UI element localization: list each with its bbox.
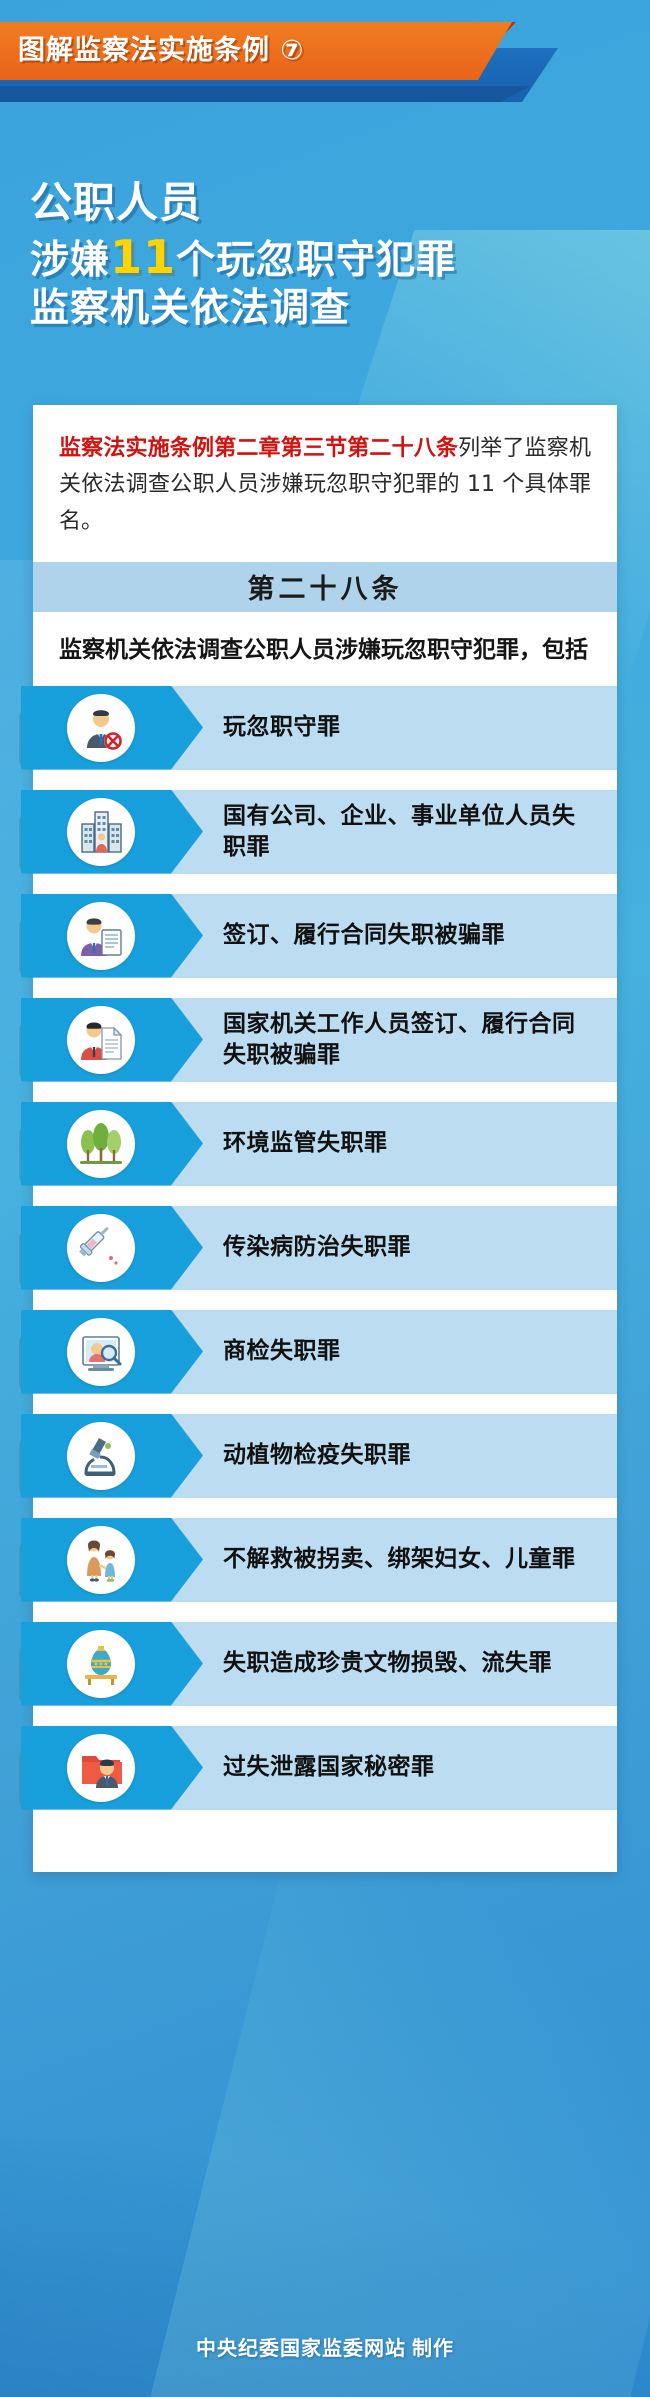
intro-paragraph: 监察法实施条例第二章第三节第二十八条列举了监察机关依法调查公职人员涉嫌玩忽职守犯… xyxy=(33,405,617,554)
person-prohibited-icon xyxy=(67,694,135,762)
article-number-label: 第二十八条 xyxy=(248,567,403,606)
vase-artifact-icon xyxy=(67,1630,135,1698)
header-ribbon: 图解监察法实施条例 ⑦ xyxy=(0,22,650,114)
crime-list: 玩忽职守罪国有公司、企业、事业单位人员失职罪签订、履行合同失职被骗罪国家机关工作… xyxy=(33,686,617,1810)
official-document-icon xyxy=(67,1006,135,1074)
crime-row-11: 过失泄露国家秘密罪 xyxy=(33,1726,617,1810)
microscope-icon xyxy=(67,1422,135,1490)
crime-row-3: 签订、履行合同失职被骗罪 xyxy=(33,894,617,978)
hero-line-3: 监察机关依法调查 xyxy=(30,286,630,332)
crime-label: 签订、履行合同失职被骗罪 xyxy=(223,894,595,978)
hero-line-2-before: 涉嫌 xyxy=(30,238,110,283)
footer-credit: 中央纪委国家监委网站 制作 xyxy=(0,2332,650,2361)
hero-line-2-after: 个玩忽职守犯罪 xyxy=(176,238,456,283)
crime-label: 玩忽职守罪 xyxy=(223,686,595,770)
crime-label: 动植物检疫失职罪 xyxy=(223,1414,595,1498)
ribbon-title-text: 图解监察法实施条例 ⑦ xyxy=(18,28,304,67)
infographic-page: 图解监察法实施条例 ⑦ 公职人员 涉嫌11个玩忽职守犯罪 监察机关依法调查 监察… xyxy=(0,0,650,2397)
crime-row-1: 玩忽职守罪 xyxy=(33,686,617,770)
crime-label: 传染病防治失职罪 xyxy=(223,1206,595,1290)
hero-number-11: 11 xyxy=(110,230,176,284)
syringe-icon xyxy=(67,1214,135,1282)
crime-label: 国家机关工作人员签订、履行合同失职被骗罪 xyxy=(223,998,595,1082)
trees-icon xyxy=(67,1110,135,1178)
hero-line-1: 公职人员 xyxy=(30,178,630,228)
ribbon-blue-shadow xyxy=(0,86,530,102)
crime-label: 商检失职罪 xyxy=(223,1310,595,1394)
article-number-band: 第二十八条 xyxy=(33,562,617,612)
crime-row-10: 失职造成珍贵文物损毁、流失罪 xyxy=(33,1622,617,1706)
secret-folder-icon xyxy=(67,1734,135,1802)
crime-row-8: 动植物检疫失职罪 xyxy=(33,1414,617,1498)
crime-row-7: 商检失职罪 xyxy=(33,1310,617,1394)
hero-title-block: 公职人员 涉嫌11个玩忽职守犯罪 监察机关依法调查 xyxy=(30,178,630,332)
crime-label: 环境监管失职罪 xyxy=(223,1102,595,1186)
hero-line-2: 涉嫌11个玩忽职守犯罪 xyxy=(30,230,630,284)
inspection-icon xyxy=(67,1318,135,1386)
crime-row-9: 不解救被拐卖、绑架妇女、儿童罪 xyxy=(33,1518,617,1602)
content-card: 监察法实施条例第二章第三节第二十八条列举了监察机关依法调查公职人员涉嫌玩忽职守犯… xyxy=(33,405,617,1872)
intro-highlight: 监察法实施条例第二章第三节第二十八条 xyxy=(59,436,458,461)
office-building-icon xyxy=(67,798,135,866)
woman-child-icon xyxy=(67,1526,135,1594)
crime-row-6: 传染病防治失职罪 xyxy=(33,1206,617,1290)
crime-label: 过失泄露国家秘密罪 xyxy=(223,1726,595,1810)
crime-row-5: 环境监管失职罪 xyxy=(33,1102,617,1186)
lead-paragraph: 监察机关依法调查公职人员涉嫌玩忽职守犯罪，包括 xyxy=(33,612,617,678)
person-contract-icon xyxy=(67,902,135,970)
crime-label: 不解救被拐卖、绑架妇女、儿童罪 xyxy=(223,1518,595,1602)
crime-row-2: 国有公司、企业、事业单位人员失职罪 xyxy=(33,790,617,874)
crime-row-4: 国家机关工作人员签订、履行合同失职被骗罪 xyxy=(33,998,617,1082)
crime-label: 国有公司、企业、事业单位人员失职罪 xyxy=(223,790,595,874)
crime-label: 失职造成珍贵文物损毁、流失罪 xyxy=(223,1622,595,1706)
